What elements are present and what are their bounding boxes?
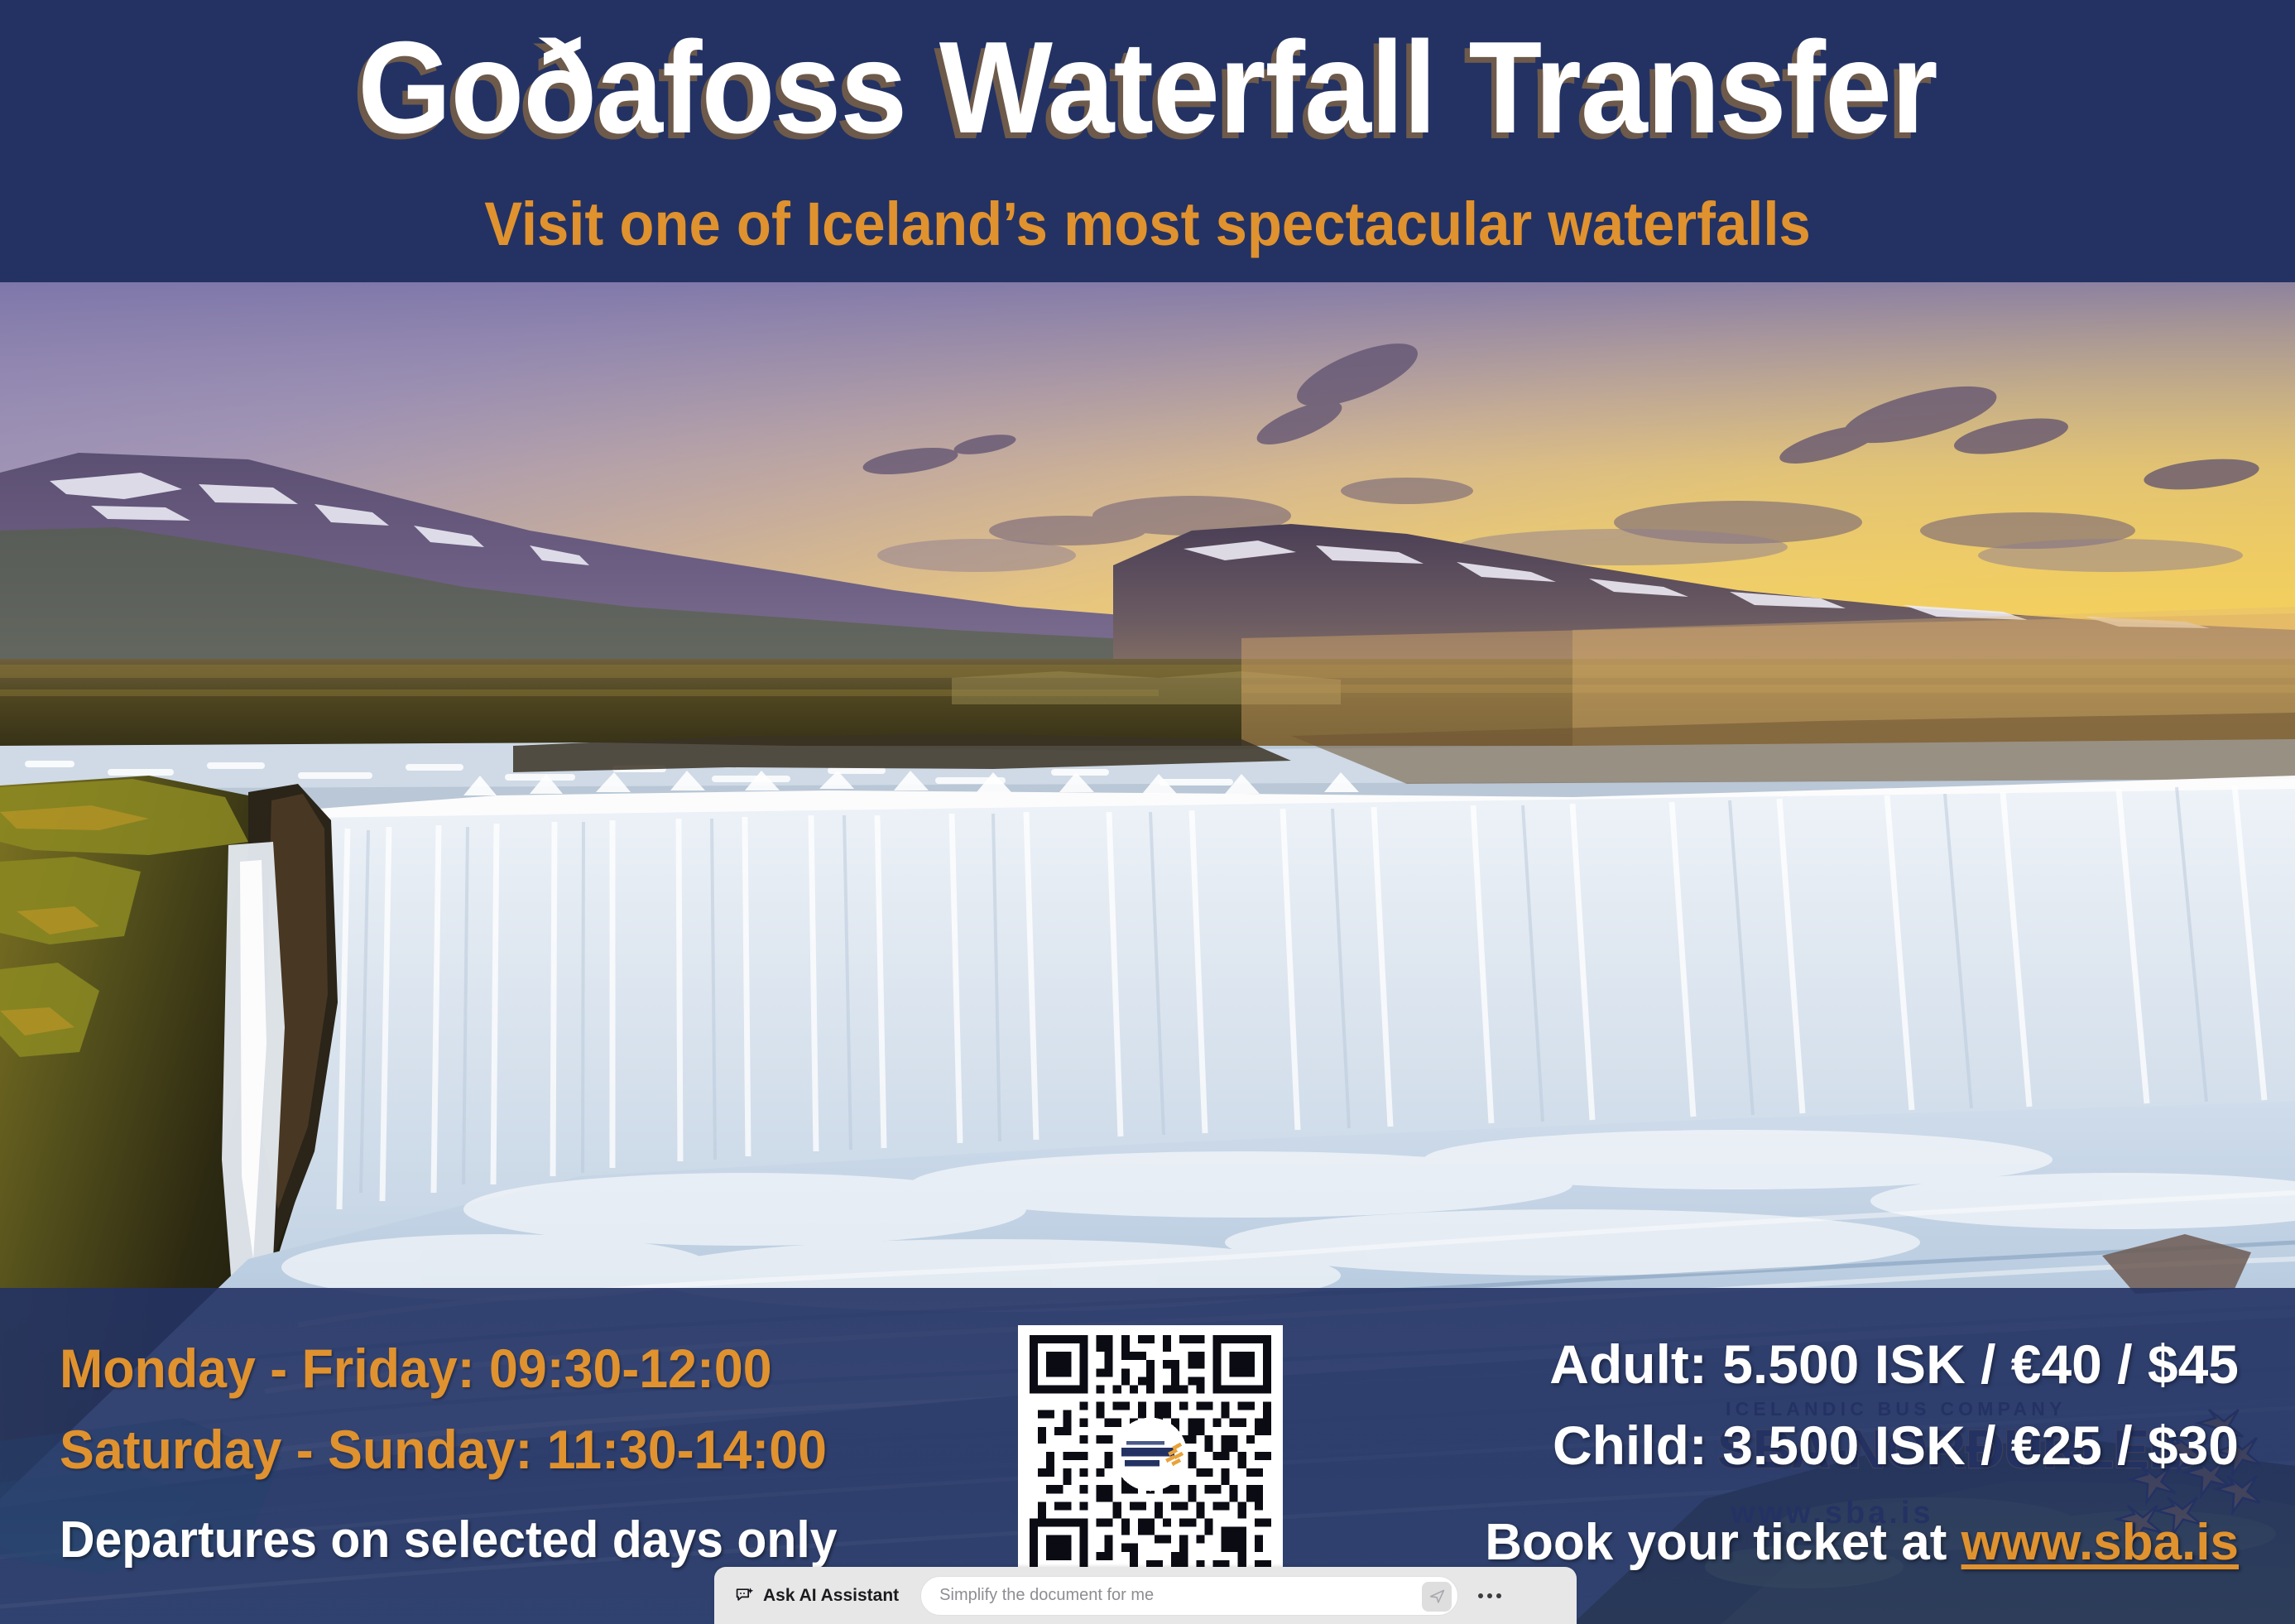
schedule-line-weekday: Monday - Friday: 09:30-12:00 [60, 1337, 933, 1400]
ai-chat-sparkle-icon [735, 1586, 755, 1606]
poster-page: Goðafoss Waterfall Transfer Visit one of… [0, 0, 2295, 1624]
page-title: Goðafoss Waterfall Transfer [92, 22, 2203, 155]
schedule-block: Monday - Friday: 09:30-12:00 Saturday - … [60, 1337, 978, 1499]
qr-code-matrix [1028, 1335, 1273, 1577]
send-paper-plane-icon [1428, 1588, 1446, 1605]
ask-ai-assistant-label: Ask AI Assistant [763, 1586, 899, 1606]
qr-code[interactable] [1018, 1325, 1283, 1587]
booking-line: Book your ticket at www.sba.is [1485, 1513, 2239, 1572]
price-line-child: Child: 3.500 ISK / €25 / $30 [1549, 1414, 2239, 1477]
price-line-adult: Adult: 5.500 ISK / €40 / $45 [1549, 1333, 2239, 1396]
more-options-icon[interactable] [1478, 1593, 1501, 1598]
booking-url-link[interactable]: www.sba.is [1961, 1514, 2239, 1571]
send-icon[interactable] [1422, 1582, 1452, 1612]
pricing-block: Adult: 5.500 ISK / €40 / $45 Child: 3.50… [1549, 1333, 2239, 1495]
ai-assistant-toolbar: Ask AI Assistant [714, 1567, 1577, 1624]
booking-prefix: Book your ticket at [1485, 1514, 1961, 1571]
ai-prompt-field[interactable] [920, 1576, 1458, 1616]
schedule-line-weekend: Saturday - Sunday: 11:30-14:00 [60, 1418, 933, 1481]
ai-prompt-input[interactable] [939, 1586, 1403, 1605]
page-subtitle: Visit one of Iceland’s most spectacular … [80, 189, 2215, 259]
departures-note: Departures on selected days only [60, 1511, 837, 1569]
poster-header: Goðafoss Waterfall Transfer Visit one of… [0, 0, 2295, 282]
ask-ai-assistant-button[interactable]: Ask AI Assistant [735, 1586, 899, 1606]
